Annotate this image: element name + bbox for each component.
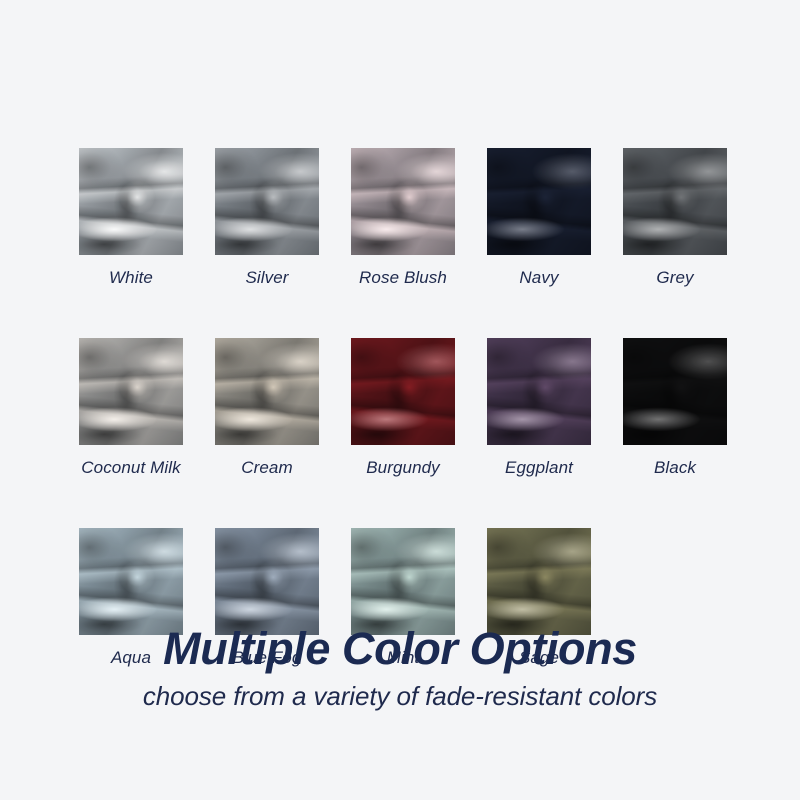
swatch-grid: WhiteSilverRose BlushNavyGreyCoconut Mil… [79,148,724,668]
swatch-row: Coconut MilkCreamBurgundyEggplantBlack [79,338,724,478]
satin-sheen-overlay [487,338,591,445]
swatch-fabric-tile[interactable] [79,148,183,255]
satin-sheen-overlay [79,528,183,635]
satin-sheen-overlay [487,148,591,255]
swatch-fabric-tile[interactable] [215,148,319,255]
satin-sheen-overlay [351,528,455,635]
satin-sheen-overlay [623,338,727,445]
swatch-option-cream[interactable]: Cream [215,338,319,478]
satin-sheen-overlay [215,148,319,255]
swatch-fabric-tile[interactable] [487,528,591,635]
color-options-graphic: WhiteSilverRose BlushNavyGreyCoconut Mil… [0,0,800,800]
swatch-fabric-tile[interactable] [351,148,455,255]
swatch-option-silver[interactable]: Silver [215,148,319,288]
swatch-fabric-tile[interactable] [215,338,319,445]
swatch-label: Eggplant [505,458,573,478]
swatch-fabric-tile[interactable] [487,338,591,445]
satin-sheen-overlay [215,528,319,635]
satin-sheen-overlay [351,338,455,445]
swatch-label: Black [654,458,696,478]
swatch-option-navy[interactable]: Navy [487,148,591,288]
swatch-option-rose-blush[interactable]: Rose Blush [351,148,455,288]
swatch-option-black[interactable]: Black [623,338,727,478]
page-subtitle: choose from a variety of fade-resistant … [0,682,800,711]
swatch-label: Silver [245,268,288,288]
swatch-fabric-tile[interactable] [623,148,727,255]
swatch-fabric-tile[interactable] [79,528,183,635]
swatch-fabric-tile[interactable] [351,528,455,635]
satin-sheen-overlay [623,148,727,255]
swatch-label: Cream [241,458,293,478]
swatch-label: Rose Blush [359,268,447,288]
swatch-row: WhiteSilverRose BlushNavyGrey [79,148,724,288]
satin-sheen-overlay [487,528,591,635]
swatch-label: Burgundy [366,458,440,478]
swatch-label: Navy [519,268,558,288]
swatch-option-burgundy[interactable]: Burgundy [351,338,455,478]
swatch-option-coconut-milk[interactable]: Coconut Milk [79,338,183,478]
swatch-option-eggplant[interactable]: Eggplant [487,338,591,478]
swatch-fabric-tile[interactable] [215,528,319,635]
swatch-option-white[interactable]: White [79,148,183,288]
swatch-label: Grey [656,268,693,288]
swatch-label: Coconut Milk [81,458,180,478]
swatch-label: White [109,268,153,288]
swatch-fabric-tile[interactable] [79,338,183,445]
swatch-option-grey[interactable]: Grey [623,148,727,288]
headline-block: Multiple Color Options choose from a var… [0,626,800,710]
swatch-fabric-tile[interactable] [487,148,591,255]
page-title: Multiple Color Options [0,626,800,673]
satin-sheen-overlay [79,148,183,255]
satin-sheen-overlay [351,148,455,255]
swatch-fabric-tile[interactable] [351,338,455,445]
satin-sheen-overlay [215,338,319,445]
satin-sheen-overlay [79,338,183,445]
swatch-fabric-tile[interactable] [623,338,727,445]
